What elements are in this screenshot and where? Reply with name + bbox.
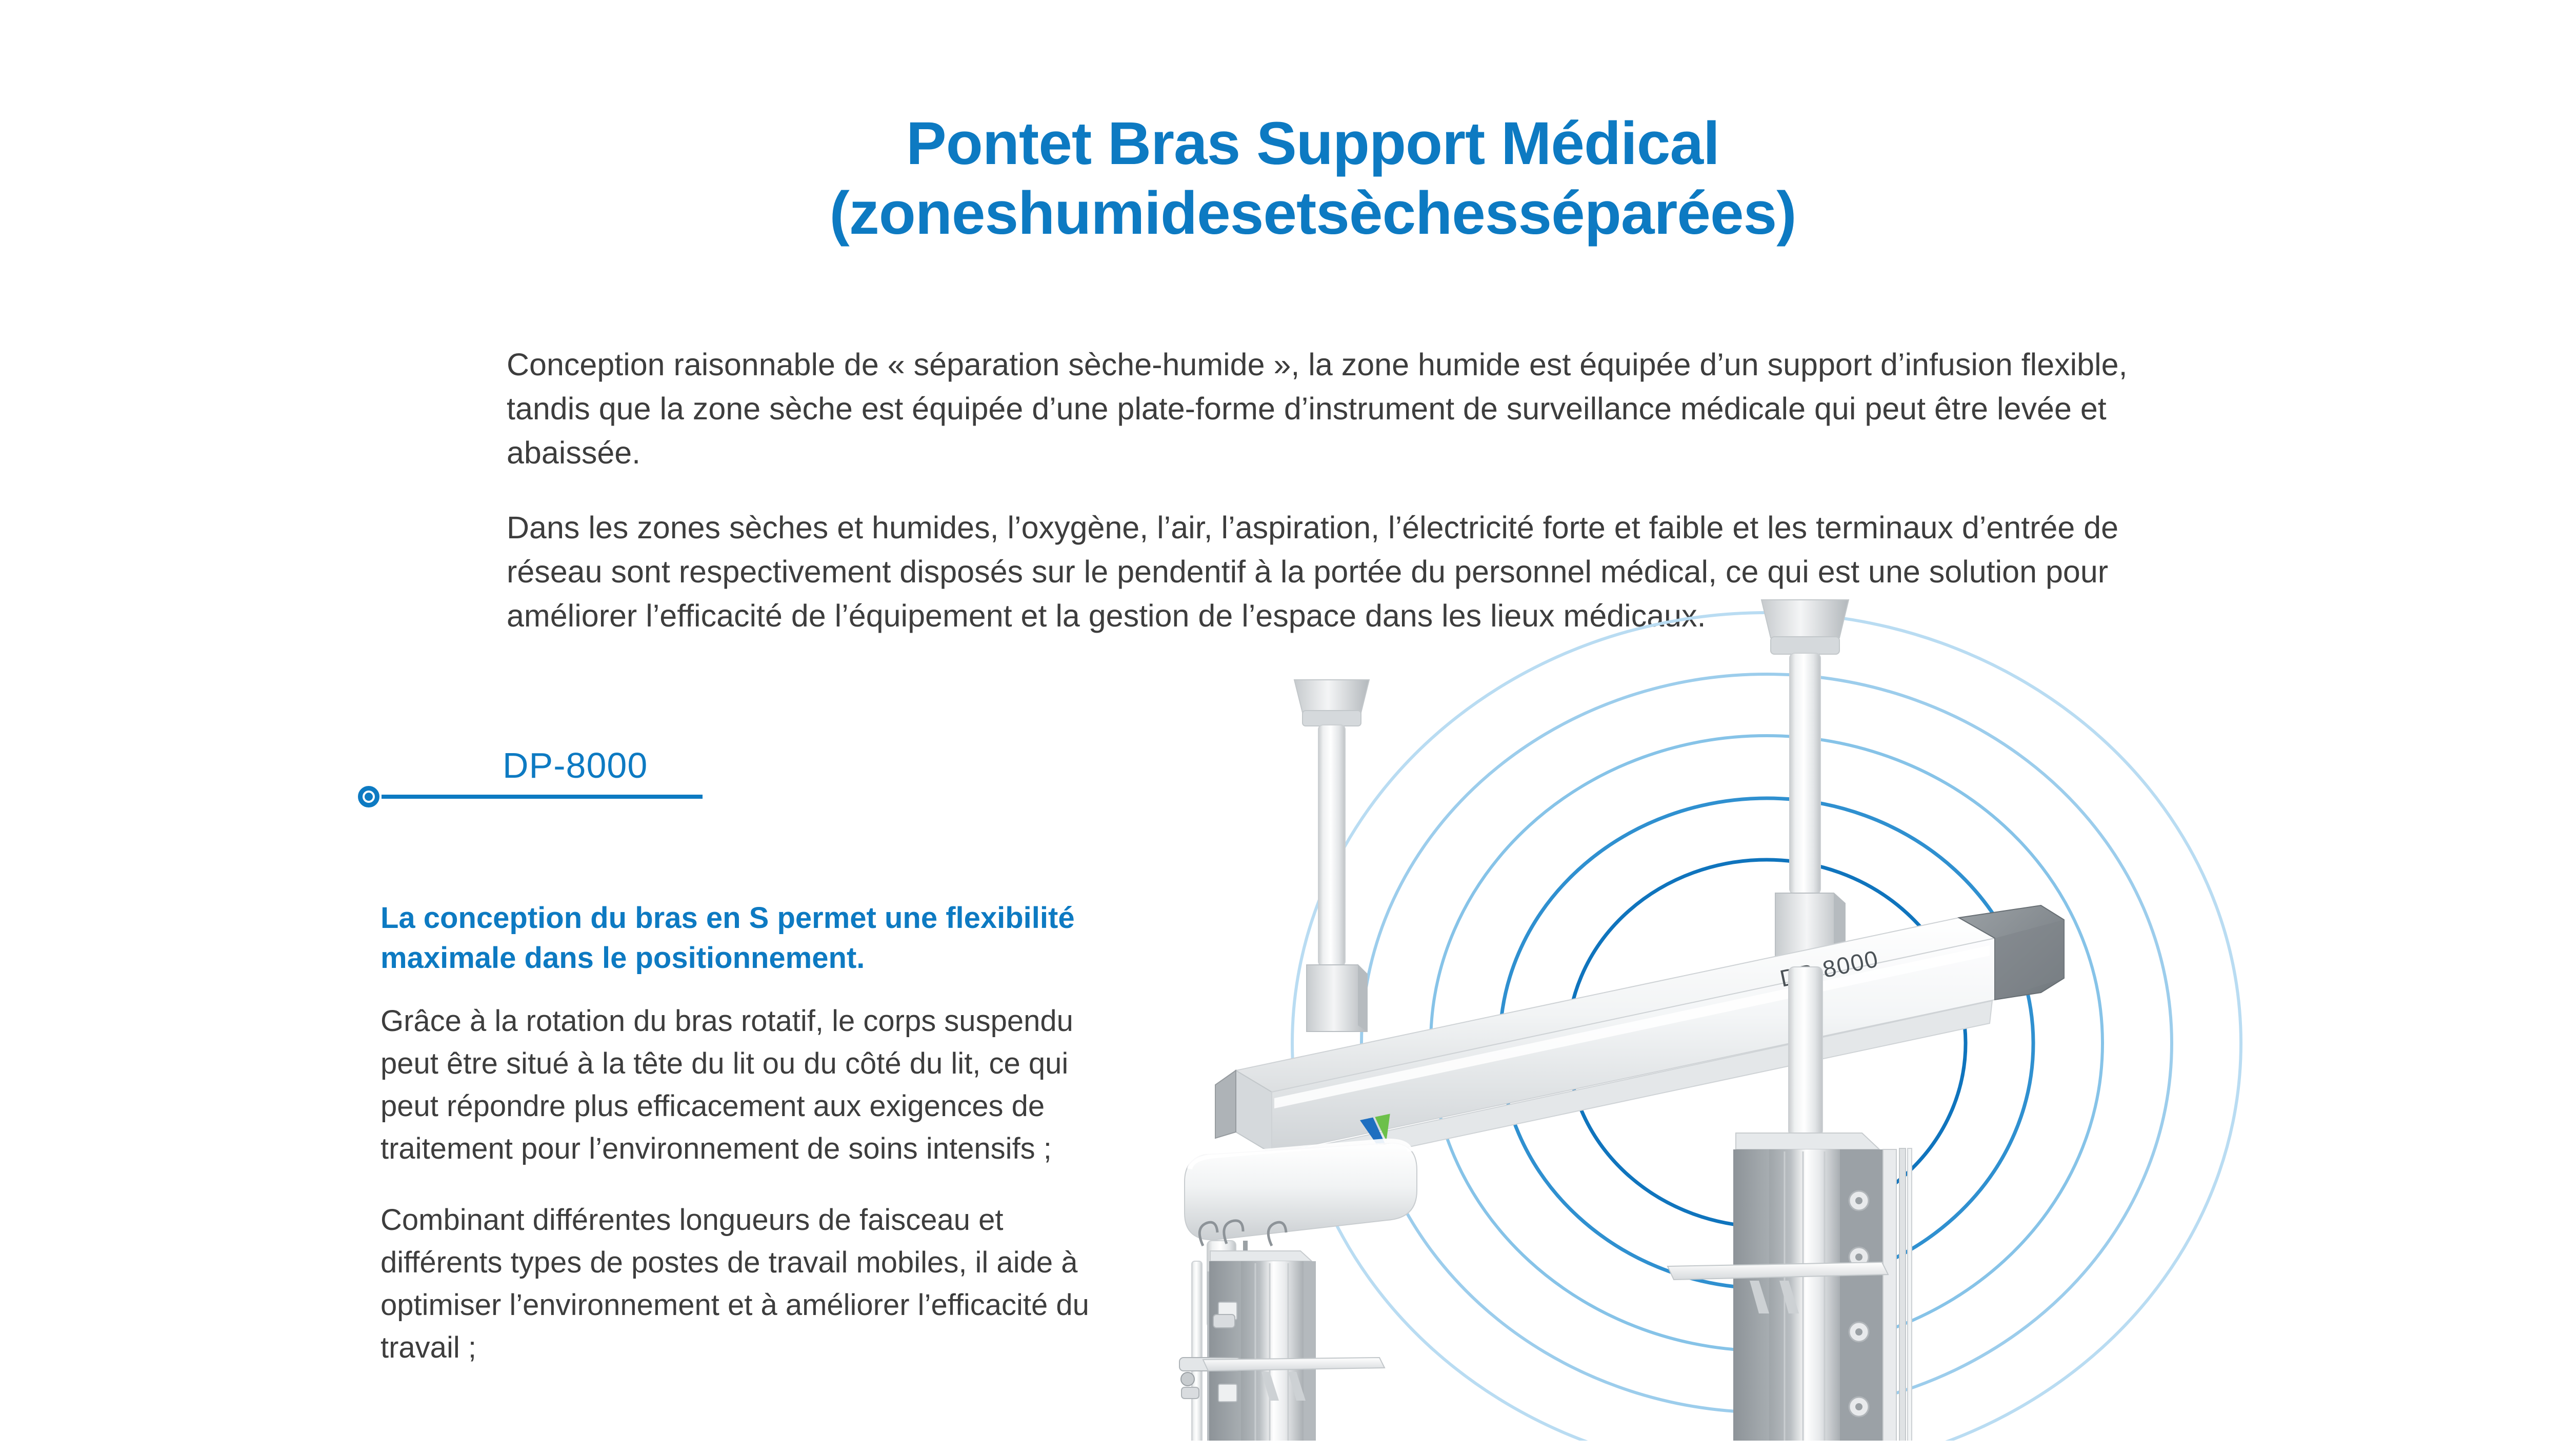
- product-illustration: DP-8000 DAVID: [1169, 579, 2513, 1441]
- page-title-line-2: (zoneshumidesetsèchesséparées): [0, 178, 2564, 248]
- feature-text-block: La conception du bras en S permet une fl…: [380, 898, 1114, 1369]
- page-title: Pontet Bras Support Médical (zoneshumide…: [0, 109, 2564, 248]
- page-title-line-1: Pontet Bras Support Médical: [0, 109, 2564, 178]
- marker-dot-icon: [358, 786, 379, 807]
- feature-paragraph-2: Combinant différentes longueurs de faisc…: [380, 1199, 1114, 1369]
- feature-paragraph-1: Grâce à la rotation du bras rotatif, le …: [380, 1000, 1114, 1170]
- ceiling-mount-front: [1761, 600, 1849, 967]
- model-label: DP-8000: [503, 746, 648, 785]
- page-root: Pontet Bras Support Médical (zoneshumide…: [0, 0, 2564, 1456]
- side-rail-front: [1899, 1148, 1912, 1441]
- marker-rule: [382, 795, 703, 799]
- ceiling-mount-rear: [1294, 680, 1369, 1032]
- model-marker: DP-8000: [349, 746, 718, 838]
- feature-heading: La conception du bras en S permet une fl…: [380, 898, 1114, 978]
- intro-paragraph-1: Conception raisonnable de « séparation s…: [507, 342, 2158, 475]
- product-illustration-svg: DP-8000 DAVID: [1169, 579, 2513, 1441]
